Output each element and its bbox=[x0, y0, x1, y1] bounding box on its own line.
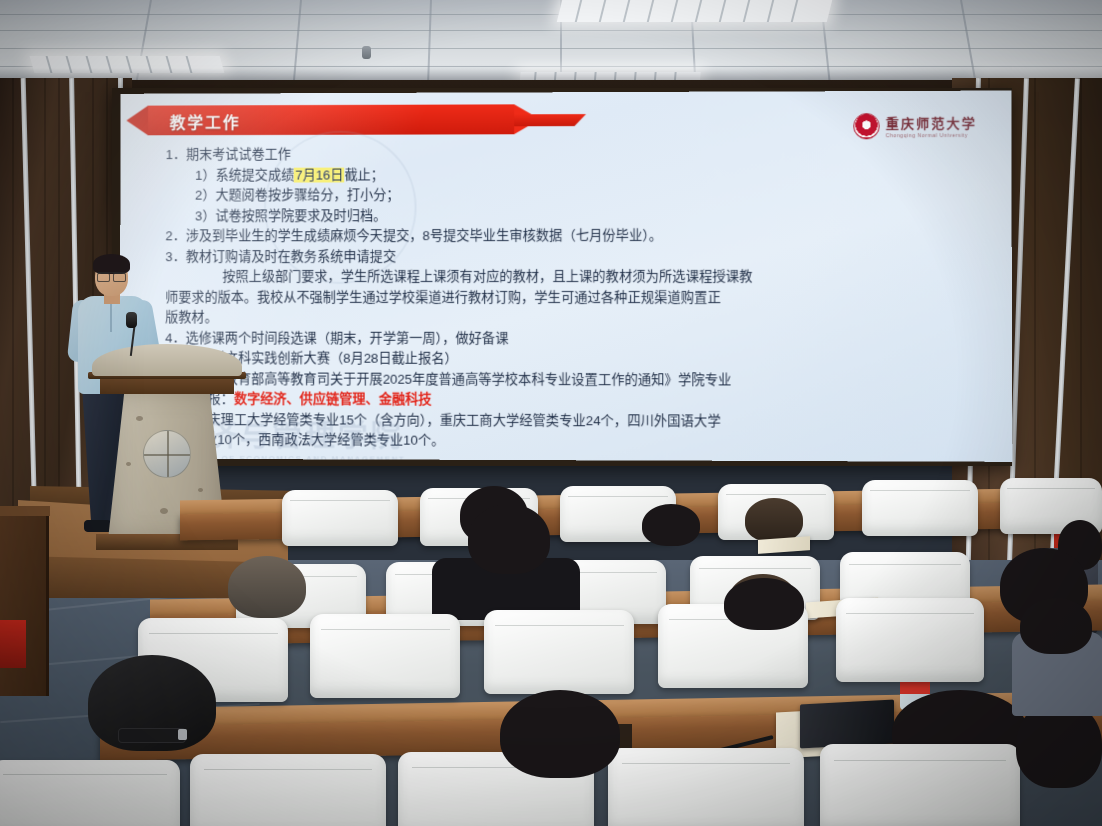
attendee-head bbox=[228, 556, 306, 618]
cap-strap bbox=[118, 728, 186, 743]
chair bbox=[820, 744, 1020, 826]
slide-title: 教学工作 bbox=[170, 109, 241, 133]
chair bbox=[282, 490, 398, 546]
slide-line: 按照上级部门要求，学生所选课程上课须有对应的教材，且上课的教材须为所选课程授课教 bbox=[165, 267, 993, 288]
slide-line: 申报：数字经济、供应链管理、金融科技 bbox=[165, 389, 994, 412]
slide-line: 管类专业10个，西南政法大学经管类专业10个。 bbox=[165, 430, 994, 453]
highlighted-majors: 数字经济、供应链管理、金融科技 bbox=[234, 391, 432, 406]
attendee-head bbox=[500, 690, 620, 778]
projection-screen: 教学工作 重庆师范大学 Chongqing Normal University … bbox=[120, 91, 1013, 462]
podium-emblem-icon bbox=[143, 430, 191, 478]
university-seal-icon bbox=[853, 113, 879, 139]
chair bbox=[862, 480, 978, 536]
sprinkler-head bbox=[362, 46, 371, 59]
slide-line: 5．首届新文科实践创新大赛（8月28日截止报名） bbox=[165, 348, 994, 370]
slide-line: 重庆理工大学经管类专业15个（含方向），重庆工商大学经管类专业24个，四川外国语… bbox=[165, 410, 994, 433]
presenter-hair bbox=[93, 254, 130, 274]
cap-buckle bbox=[178, 729, 187, 740]
chair bbox=[608, 748, 804, 826]
slide-line: 师要求的版本。我校从不强制学生通过学校渠道进行教材订购，学生可通过各种正规渠道购… bbox=[165, 287, 993, 308]
attendee-head bbox=[1020, 598, 1092, 654]
notebook bbox=[758, 536, 810, 554]
banner-tail bbox=[514, 114, 586, 126]
watermark-ring bbox=[264, 131, 417, 284]
chair bbox=[310, 614, 460, 698]
chair bbox=[836, 598, 984, 682]
attendee-head bbox=[642, 504, 700, 546]
suspended-ceiling bbox=[0, 0, 1102, 92]
red-floor-object bbox=[0, 620, 26, 668]
attendee-head bbox=[724, 578, 804, 630]
attendee-head bbox=[745, 498, 803, 542]
university-name-cn: 重庆师范大学 bbox=[886, 116, 977, 131]
ceiling-light-panel bbox=[557, 0, 833, 22]
chair bbox=[190, 754, 386, 826]
slide-line: 4．选修课两个时间段选课（期末，开学第一周），做好备课 bbox=[165, 328, 994, 350]
dark-notebook bbox=[800, 700, 894, 749]
presenter-glasses bbox=[97, 272, 126, 280]
attendee-head bbox=[468, 504, 550, 574]
chair bbox=[484, 610, 634, 694]
slide-line: 版教材。 bbox=[165, 308, 993, 329]
lecture-hall-photo: 教学工作 重庆师范大学 Chongqing Normal University … bbox=[0, 0, 1102, 826]
university-name-en: Chongqing Normal University bbox=[886, 133, 977, 139]
side-cabinet-top bbox=[0, 506, 50, 516]
microphone-icon bbox=[126, 312, 137, 328]
slide-line: 6．根据《教育部高等教育司关于开展2025年度普通高等学校本科专业设置工作的通知… bbox=[165, 369, 994, 391]
presenter-shirt-placket bbox=[110, 302, 112, 332]
university-logo: 重庆师范大学 Chongqing Normal University bbox=[853, 113, 977, 140]
chair bbox=[0, 760, 180, 826]
